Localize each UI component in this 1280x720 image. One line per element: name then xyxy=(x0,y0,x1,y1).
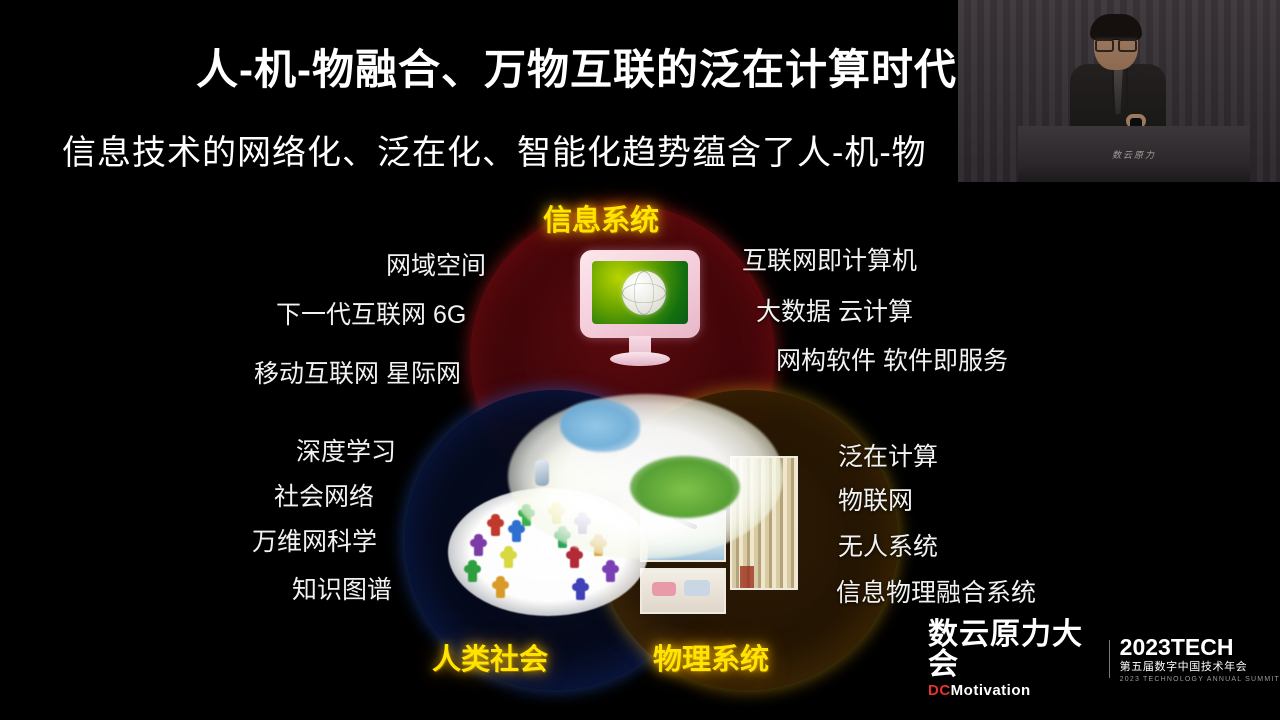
vehicle-photo-icon xyxy=(640,568,726,614)
speaker-figure xyxy=(1070,18,1166,130)
logo-brand-dc: DC xyxy=(928,682,951,699)
mobile-phone-icon xyxy=(535,460,549,486)
venn-label-physical-system: 物理系统 xyxy=(653,636,769,678)
term-label: 大数据 云计算 xyxy=(756,292,913,328)
slide-subtitle: 信息技术的网络化、泛在化、智能化趋势蕴含了人-机-物 xyxy=(62,125,1072,174)
logo-event-year: 2023 xyxy=(1120,634,1171,660)
logo-event-cn: 第五届数字中国技术年会 xyxy=(1120,662,1280,673)
logo-divider xyxy=(1109,640,1110,678)
term-label: 泛在计算 xyxy=(838,437,938,473)
term-label: 网构软件 软件即服务 xyxy=(776,341,1008,377)
nature-blob-icon xyxy=(630,456,740,518)
venn-label-information-system: 信息系统 xyxy=(543,197,659,239)
term-label: 知识图谱 xyxy=(292,570,392,606)
logo-brand-cn: 数云原力大会 xyxy=(928,620,1099,680)
logo-brand-motivation: Motivation xyxy=(951,682,1031,699)
logo-event-en: 2023 TECHNOLOGY ANNUAL SUMMIT xyxy=(1120,676,1280,683)
term-label: 互联网即计算机 xyxy=(742,241,917,277)
term-label: 深度学习 xyxy=(296,432,396,468)
term-label: 无人系统 xyxy=(838,527,938,563)
logo-event-tech: TECH xyxy=(1171,634,1234,660)
slide-canvas: 人-机-物融合、万物互联的泛在计算时代 信息技术的网络化、泛在化、智能化趋势蕴含… xyxy=(0,0,1280,720)
term-label: 下一代互联网 6G xyxy=(276,295,466,331)
term-label: 信息物理融合系统 xyxy=(836,573,1036,609)
term-label: 网域空间 xyxy=(386,246,486,282)
term-label: 万维网科学 xyxy=(252,522,377,558)
venn-label-human-society: 人类社会 xyxy=(432,636,548,678)
conference-logo: 数云原力大会 DCMotivation 2023TECH 第五届数字中国技术年会… xyxy=(928,632,1280,686)
podium: 数云原力 xyxy=(1018,126,1250,182)
city-blob-icon xyxy=(560,400,640,452)
term-label: 社会网络 xyxy=(274,477,374,513)
speaker-video-overlay[interactable]: 数云原力 xyxy=(958,0,1280,182)
globe-icon xyxy=(622,271,666,315)
term-label: 物联网 xyxy=(838,481,913,517)
computer-monitor-icon xyxy=(580,250,700,368)
podium-caption: 数云原力 xyxy=(1018,148,1250,161)
glasses-icon xyxy=(1095,37,1137,47)
term-label: 移动互联网 星际网 xyxy=(254,354,461,390)
